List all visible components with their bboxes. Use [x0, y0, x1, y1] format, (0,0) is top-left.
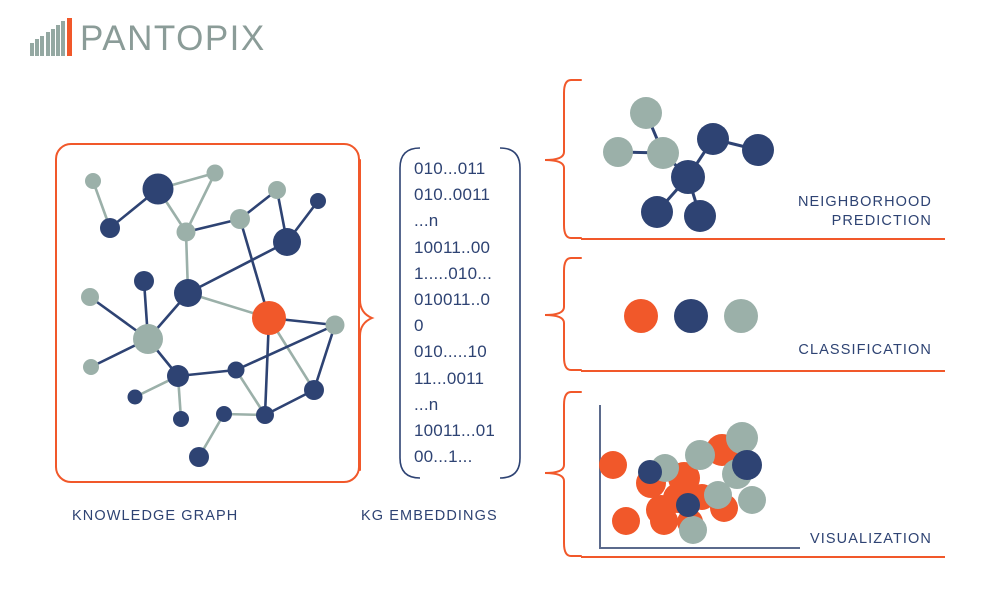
graph-node — [603, 137, 633, 167]
scatter-point — [726, 422, 758, 454]
brace-visualization — [545, 392, 581, 556]
graph-node — [143, 174, 174, 205]
graph-node — [671, 160, 705, 194]
graph-node — [273, 228, 301, 256]
scatter-point — [732, 450, 762, 480]
graph-node — [647, 137, 679, 169]
embeddings-bracket-arm — [400, 148, 420, 478]
knowledge-graph-nodes — [81, 165, 345, 468]
knowledge-graph-edges — [90, 173, 335, 457]
graph-node — [230, 209, 250, 229]
scatter-point — [738, 486, 766, 514]
scatter-point — [685, 440, 715, 470]
graph-node — [268, 181, 286, 199]
graph-node — [85, 173, 101, 189]
embeddings-bracket-arm — [500, 148, 520, 478]
graph-node — [173, 411, 189, 427]
embeddings-bracket — [400, 148, 520, 478]
graph-node — [228, 362, 245, 379]
classification-dot — [674, 299, 708, 333]
graph-node — [742, 134, 774, 166]
graph-node — [216, 406, 232, 422]
classification-dot — [724, 299, 758, 333]
graph-node — [133, 324, 163, 354]
diagram-artwork — [0, 0, 1000, 600]
scatter-point — [676, 493, 700, 517]
scatter-point — [650, 507, 678, 535]
graph-edge — [188, 242, 287, 293]
graph-node — [167, 365, 189, 387]
divider-neighborhood — [581, 238, 945, 240]
divider-classification — [581, 370, 945, 372]
graph-node — [174, 279, 202, 307]
graph-node — [177, 223, 196, 242]
graph-node — [83, 359, 99, 375]
scatter-point — [638, 460, 662, 484]
brace-classification — [545, 258, 581, 370]
neighborhood-graph-nodes — [603, 97, 774, 232]
infographic-canvas: PANTOPIX KNOWLEDGE GRAPH 010...011010..0… — [0, 0, 1000, 600]
brace-neighborhood — [545, 80, 581, 238]
scatter-points — [599, 422, 766, 544]
graph-node — [128, 390, 143, 405]
classification-dot — [624, 299, 658, 333]
classification-dots — [624, 299, 758, 333]
graph-node — [684, 200, 716, 232]
scatter-point — [599, 451, 627, 479]
graph-node — [630, 97, 662, 129]
divider-visualization — [581, 556, 945, 558]
graph-edge — [314, 325, 335, 390]
graph-node — [207, 165, 224, 182]
graph-node — [310, 193, 326, 209]
graph-node — [326, 316, 345, 335]
graph-edge — [186, 173, 215, 232]
graph-node — [252, 301, 286, 335]
scatter-point — [612, 507, 640, 535]
graph-node — [304, 380, 324, 400]
graph-node — [189, 447, 209, 467]
graph-node — [256, 406, 274, 424]
graph-edge — [236, 325, 335, 370]
scatter-point — [704, 481, 732, 509]
graph-node — [100, 218, 120, 238]
scatter-point — [679, 516, 707, 544]
brace-knowledge-graph — [360, 160, 372, 470]
graph-node — [697, 123, 729, 155]
graph-node — [134, 271, 154, 291]
graph-node — [81, 288, 99, 306]
graph-node — [641, 196, 673, 228]
orange-braces — [360, 80, 581, 556]
